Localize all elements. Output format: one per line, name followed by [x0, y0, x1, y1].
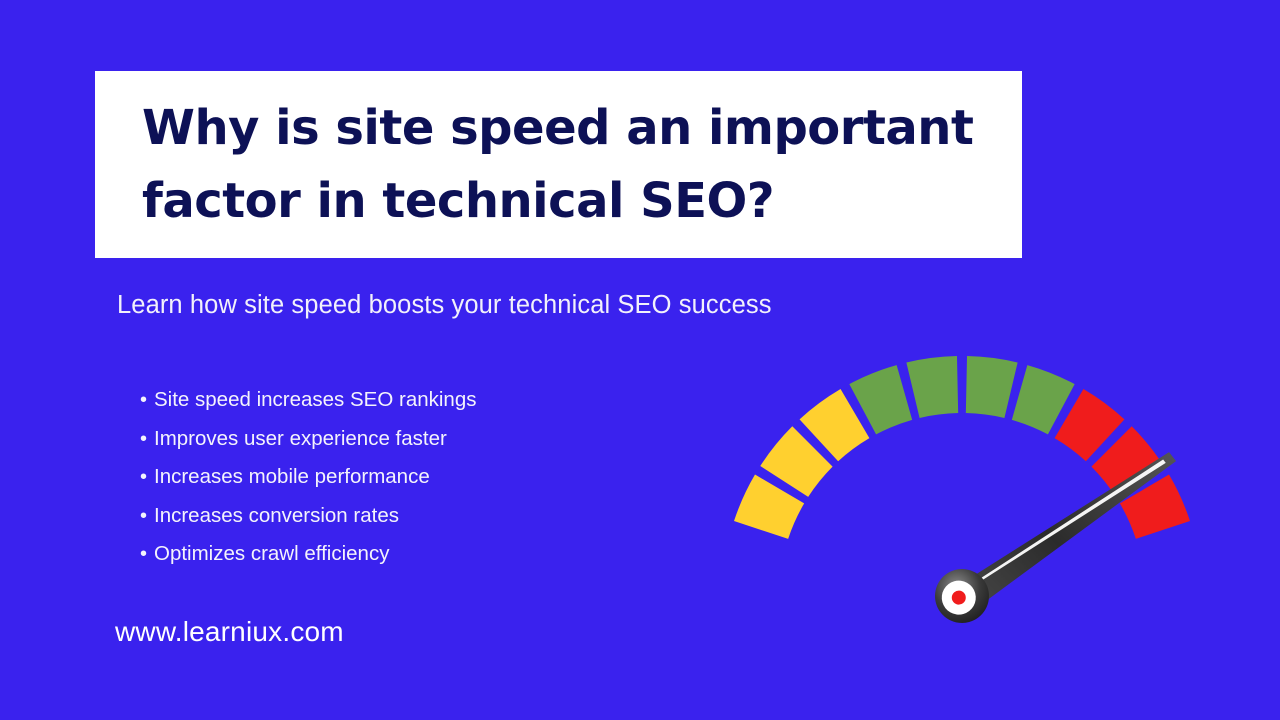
- list-item: • Site speed increases SEO rankings: [140, 381, 476, 420]
- page-title-line-1: Why is site speed an important: [142, 92, 992, 165]
- subtitle-text: Learn how site speed boosts your technic…: [117, 291, 772, 320]
- website-url: www.learniux.com: [115, 616, 344, 648]
- page-title-line-2: factor in technical SEO?: [142, 165, 992, 238]
- bullet-dot-icon: •: [140, 421, 154, 459]
- speedometer-gauge: [706, 352, 1218, 644]
- bullet-dot-icon: •: [140, 459, 154, 497]
- list-item-label: Site speed increases SEO rankings: [154, 381, 476, 419]
- benefits-list: • Site speed increases SEO rankings • Im…: [140, 381, 476, 574]
- gauge-arc-segments: [734, 356, 1190, 539]
- gauge-segment-green-5: [906, 356, 958, 418]
- title-card: Why is site speed an important factor in…: [95, 71, 1022, 258]
- bullet-dot-icon: •: [140, 498, 154, 536]
- list-item-label: Increases mobile performance: [154, 458, 430, 496]
- list-item: • Improves user experience faster: [140, 420, 476, 459]
- list-item: • Increases conversion rates: [140, 497, 476, 536]
- gauge-segment-green-6: [966, 356, 1018, 418]
- bullet-dot-icon: •: [140, 382, 154, 420]
- list-item-label: Increases conversion rates: [154, 497, 399, 535]
- list-item-label: Optimizes crawl efficiency: [154, 535, 389, 573]
- slide-canvas: Why is site speed an important factor in…: [0, 0, 1280, 720]
- list-item: • Optimizes crawl efficiency: [140, 535, 476, 574]
- list-item-label: Improves user experience faster: [154, 420, 447, 458]
- bullet-dot-icon: •: [140, 536, 154, 574]
- list-item: • Increases mobile performance: [140, 458, 476, 497]
